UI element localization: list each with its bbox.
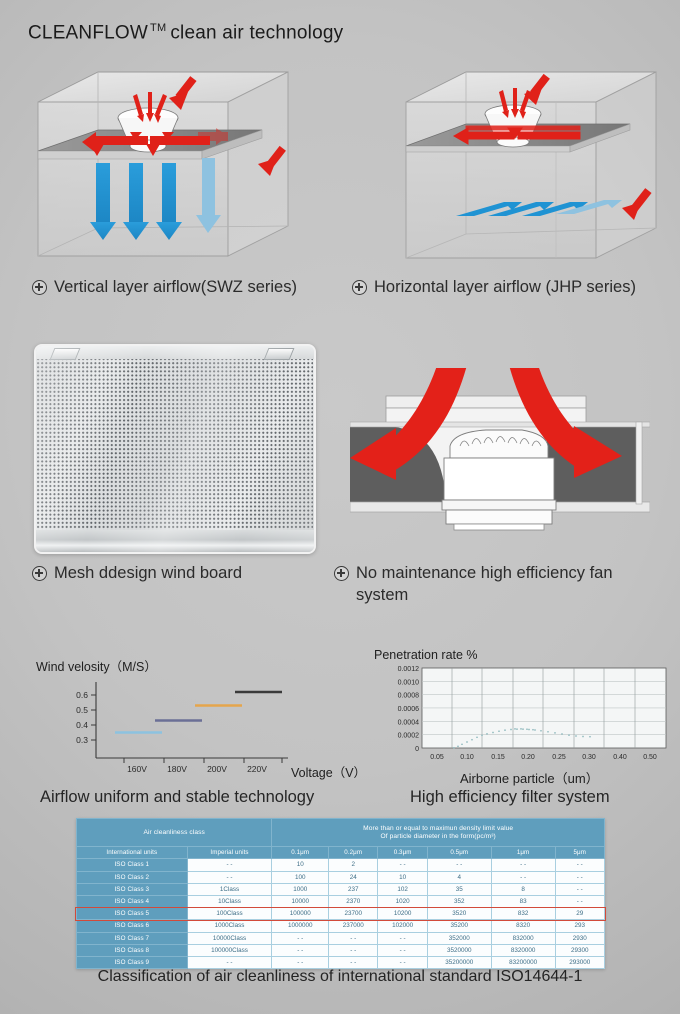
table-cell: - - [555,895,605,907]
col-0-2um: 0.2μm [329,847,378,859]
ytick-label: 0.0004 [398,719,420,726]
table-cell: - - [378,944,427,956]
table-group-header-row: Air cleanliness class More than or equal… [77,819,605,847]
table-cell: 100000 [272,908,329,920]
table-row: ISO Class 31Class1000237102358- - [77,883,605,895]
table-cell: 23700 [329,908,378,920]
group-header-line1: More than or equal to maximun density li… [363,825,513,832]
ytick-label: 0.0006 [398,706,420,713]
page-title-rest: clean air technology [170,22,343,43]
col-5um: 5μm [555,847,605,859]
table-cell: - - [555,883,605,895]
plus-circle-icon [32,280,47,295]
col-imperial-units: Imperial units [187,847,272,859]
level-segments [115,692,282,733]
table-cell: 237000 [329,920,378,932]
table-cell: 100 [272,871,329,883]
table-cell: 8 [491,883,555,895]
vertical-airflow-diagram [30,58,295,273]
table-row: ISO Class 2- -10024104- -- - [77,871,605,883]
board-hinge-left [50,348,81,360]
table-cell: - - [378,859,427,871]
ytick-label: 0.0002 [398,733,420,740]
table-cell: - - [272,944,329,956]
iso-table-caption: Classification of air cleanliness of int… [0,968,680,986]
table-header: Air cleanliness class More than or equal… [77,819,605,859]
table-cell: 1000Class [187,920,272,932]
table-cell: - - [555,859,605,871]
table-row: ISO Class 1- -102- -- -- -- - [77,859,605,871]
table-cell: 100000Class [187,944,272,956]
ytick-label: 0.0012 [398,666,420,673]
table-cell: 3520000 [427,944,491,956]
table-cell: - - [329,944,378,956]
table-cell: 1000000 [272,920,329,932]
group-header-cleanliness: Air cleanliness class [77,819,272,847]
horizontal-airflow-svg [400,58,668,273]
table-cell: 8320 [491,920,555,932]
caption-text: Horizontal layer airflow (JHP series) [374,276,636,298]
ytick-label: 0.4 [76,720,88,730]
caption-text: No maintenance high efficiency fan syste… [356,562,662,607]
penetration-rate-xlabel: Airborne particle（um） [460,768,599,787]
iso-class-cell: ISO Class 8 [77,944,188,956]
ytick-label: 0.6 [76,690,88,700]
table-cell: - - [555,871,605,883]
board-bottom-rail [36,530,314,552]
caption-text: Mesh ddesign wind board [54,562,242,584]
table-cell: 352 [427,895,491,907]
table-cell: 10Class [187,895,272,907]
table-cell: 100Class [187,908,272,920]
fan-system-svg [350,368,650,550]
xtick-label: 0.05 [430,754,444,761]
ytick-label: 0 [415,746,419,753]
table-cell: 352000 [427,932,491,944]
xtick-label: 160V [127,764,147,774]
table-cell: 35200 [427,920,491,932]
table-cell: 102 [378,883,427,895]
caption-text: Vertical layer airflow(SWZ series) [54,276,297,298]
table-cell: 1020 [378,895,427,907]
table-cell: 293 [555,920,605,932]
caption-vertical-airflow: Vertical layer airflow(SWZ series) [32,276,352,298]
table-cell: - - [491,859,555,871]
table-cell: 10000Class [187,932,272,944]
caption-fan-system: No maintenance high efficiency fan syste… [334,562,662,607]
ytick-label: 0.3 [76,735,88,745]
xtick-label: 220V [247,764,267,774]
iso-class-cell: ISO Class 5 [77,908,188,920]
table-cell: 29300 [555,944,605,956]
vertical-airflow-svg [30,58,295,273]
fan-system-diagram [350,368,650,550]
group-header-density: More than or equal to maximun density li… [272,819,605,847]
mesh-wind-board-photo [34,344,316,554]
col-0-5um: 0.5μm [427,847,491,859]
perforated-mesh-texture [37,358,313,530]
xtick-label: 180V [167,764,187,774]
table-cell: 1Class [187,883,272,895]
iso-class-cell: ISO Class 3 [77,883,188,895]
table-cell: 10 [378,871,427,883]
table-cell: 2370 [329,895,378,907]
table-row: ISO Class 8100000Class- -- -- -352000083… [77,944,605,956]
table-cell: 10 [272,859,329,871]
table-cell: - - [491,871,555,883]
penetration-rate-plot: 0.0012 0.0010 0.0008 0.0006 0.0004 0.000… [374,662,674,774]
wind-velocity-chart: Wind velosity（M/S） 0.6 0.5 0.4 0.3 160V [36,656,356,776]
table-cell: - - [378,932,427,944]
table-cell: 2 [329,859,378,871]
ytick-label: 0.0008 [398,693,420,700]
page-title-brand: CLEANFLOW [28,22,148,43]
iso-class-cell: ISO Class 7 [77,932,188,944]
table-cell: 3520 [427,908,491,920]
table-row: ISO Class 410Class100002370102035283- - [77,895,605,907]
table-cell: 35 [427,883,491,895]
xtick-label: 0.30 [582,754,596,761]
xtick-label: 0.50 [643,754,657,761]
plus-circle-icon [352,280,367,295]
table-cell: 29 [555,908,605,920]
table-cell: 102000 [378,920,427,932]
xtick-label: 0.15 [491,754,505,761]
table-cell: 24 [329,871,378,883]
table-row: ISO Class 710000Class- -- -- -3520008320… [77,932,605,944]
table-cell: 1000 [272,883,329,895]
table-cell: - - [329,932,378,944]
table-cell: 83 [491,895,555,907]
col-0-1um: 0.1μm [272,847,329,859]
table-cell: - - [272,932,329,944]
horizontal-airflow-diagram [400,58,668,273]
xtick-label: 0.20 [521,754,535,761]
table-cell: - - [427,859,491,871]
caption-airflow-technology: Airflow uniform and stable technology [40,788,314,807]
table-cell: 237 [329,883,378,895]
caption-mesh-board: Mesh ddesign wind board [32,562,332,584]
col-0-3um: 0.3μm [378,847,427,859]
trademark-symbol: TM [150,22,166,34]
board-hinge-right [264,348,295,360]
iso-class-cell: ISO Class 6 [77,920,188,932]
wind-velocity-xlabel: Voltage（V） [291,762,366,781]
caption-horizontal-airflow: Horizontal layer airflow (JHP series) [352,276,672,298]
table-cell: 10200 [378,908,427,920]
plus-circle-icon [32,566,47,581]
ytick-label: 0.0010 [398,679,420,686]
xtick-label: 0.10 [460,754,474,761]
table-cell: - - [187,871,272,883]
col-1um: 1μm [491,847,555,859]
xtick-label: 0.25 [552,754,566,761]
table-cell: 832 [491,908,555,920]
table-row: ISO Class 61000Class10000002370001020003… [77,920,605,932]
table-column-header-row: International units Imperial units 0.1μm… [77,847,605,859]
plus-circle-icon [334,566,349,581]
ytick-label: 0.5 [76,705,88,715]
table-row: ISO Class 5100Class100000237001020035208… [77,908,605,920]
table-cell: 2930 [555,932,605,944]
caption-filter-system: High efficiency filter system [410,788,610,807]
iso-cleanliness-table: Air cleanliness class More than or equal… [76,818,605,969]
penetration-rate-chart: Penetration rate % 0.0012 0.0010 0.0008 … [374,648,674,783]
table-cell: 4 [427,871,491,883]
page-title: CLEANFLOWTMclean air technology [28,22,343,44]
table-cell: 10000 [272,895,329,907]
iso-class-cell: ISO Class 4 [77,895,188,907]
penetration-rate-title: Penetration rate % [374,648,478,662]
xtick-label: 0.40 [613,754,627,761]
group-header-line2: Of particle diameter in the form(pc/m³) [381,833,496,840]
table-cell: - - [187,859,272,871]
col-international-units: International units [77,847,188,859]
xtick-label: 200V [207,764,227,774]
table-cell: 832000 [491,932,555,944]
table-cell: 8320000 [491,944,555,956]
iso-class-cell: ISO Class 1 [77,859,188,871]
table-body: ISO Class 1- -102- -- -- -- -ISO Class 2… [77,859,605,969]
iso-class-cell: ISO Class 2 [77,871,188,883]
